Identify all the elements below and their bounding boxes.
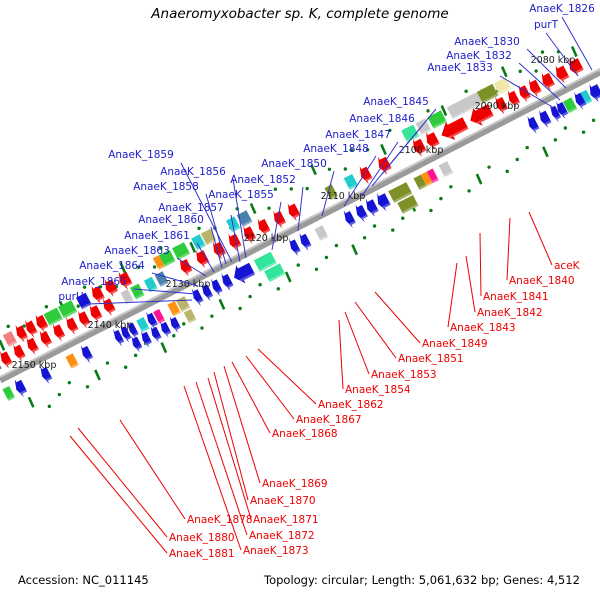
forward-gene-label[interactable]: AnaeK_1856 <box>160 166 226 178</box>
scale-tick-mark <box>290 187 293 190</box>
gene-leader-line <box>78 428 167 537</box>
gene-leader-line <box>232 362 270 433</box>
scale-tick-mark <box>449 185 452 188</box>
reverse-gene-label[interactable]: AnaeK_1869 <box>262 478 328 490</box>
forward-gene-label[interactable]: AnaeK_1860 <box>138 214 204 226</box>
forward-gene-label[interactable]: AnaeK_1832 <box>446 50 512 62</box>
reverse-gene-label[interactable]: aceK <box>554 260 581 272</box>
forward-gene-label[interactable]: AnaeK_1852 <box>230 174 296 186</box>
forward-gene-label[interactable]: AnaeK_1830 <box>454 36 520 48</box>
scale-tick-mark <box>22 324 25 327</box>
scale-tick-mark <box>251 203 255 213</box>
forward-gene-label[interactable]: AnaeK_1845 <box>363 96 429 108</box>
reverse-label-layer[interactable]: aceKAnaeK_1840AnaeK_1841AnaeK_1842AnaeK_… <box>169 260 581 560</box>
forward-gene-label[interactable]: AnaeK_1863 <box>104 245 170 257</box>
accession-text: Accession: NC_011145 <box>18 573 149 587</box>
scale-tick-mark <box>7 325 10 328</box>
gene-leader-line <box>507 218 510 280</box>
scale-tick-mark <box>182 322 185 325</box>
scale-tick-mark <box>248 295 251 298</box>
gene-leader-line <box>355 302 396 358</box>
forward-gene-label[interactable]: AnaeK_1846 <box>349 113 415 125</box>
gene-leader-line <box>375 292 420 343</box>
scale-tick-mark <box>297 263 300 266</box>
scale-tick-label: 2150 kbp <box>12 360 57 371</box>
forward-gene-label[interactable]: AnaeK_1859 <box>108 149 174 161</box>
scale-tick-mark <box>274 187 277 190</box>
forward-gene-label[interactable]: AnaeK_1861 <box>124 230 190 242</box>
scale-tick-mark <box>554 138 557 141</box>
scale-tick-mark <box>267 206 270 209</box>
scale-tick-mark <box>391 228 394 231</box>
forward-gene-label[interactable]: AnaeK_1847 <box>325 129 391 141</box>
scale-tick-mark <box>48 405 51 408</box>
scale-tick-mark <box>305 187 308 190</box>
gene-feature[interactable] <box>377 193 391 211</box>
scale-tick-mark <box>258 283 261 286</box>
forward-gene-label[interactable]: AnaeK_1850 <box>261 158 327 170</box>
scale-tick-mark <box>464 90 467 93</box>
scale-tick-mark <box>467 189 470 192</box>
gene-leader-line <box>224 366 260 483</box>
genome-map-viewer: Anaeromyxobacter sp. K, complete genome … <box>0 0 600 600</box>
scale-tick-mark <box>582 130 585 133</box>
scale-tick-mark <box>277 287 280 290</box>
scale-tick-label: 2090 kbp <box>475 101 520 112</box>
scale-tick-mark <box>315 268 318 271</box>
gene-leader-line <box>246 356 294 419</box>
scale-tick-mark <box>325 256 328 259</box>
reverse-gene-label[interactable]: AnaeK_1878 <box>187 514 253 526</box>
gene-feature[interactable] <box>234 263 255 284</box>
scale-tick-mark <box>153 265 156 268</box>
scale-tick-mark <box>238 307 241 310</box>
gene-leader-line <box>214 372 248 500</box>
scale-tick-mark <box>86 385 89 388</box>
forward-gene-label[interactable]: AnaeK_1865 <box>61 276 127 288</box>
scale-tick-mark <box>516 158 519 161</box>
scale-tick-mark <box>200 326 203 329</box>
reverse-gene-label[interactable]: AnaeK_1881 <box>169 548 235 560</box>
scale-tick-mark <box>373 224 376 227</box>
scale-tick-mark <box>45 305 48 308</box>
reverse-gene-label[interactable]: AnaeK_1880 <box>169 532 235 544</box>
scale-tick-mark <box>519 70 522 73</box>
reverse-gene-label[interactable]: AnaeK_1851 <box>398 353 464 365</box>
scale-tick-mark <box>197 227 200 230</box>
reverse-gene-label[interactable]: AnaeK_1868 <box>272 428 338 440</box>
reverse-gene-label[interactable]: AnaeK_1853 <box>371 369 437 381</box>
scale-tick-mark <box>487 165 490 168</box>
scale-tick-mark <box>124 366 127 369</box>
gene-feature[interactable] <box>556 65 570 83</box>
gene-leader-line <box>448 263 457 327</box>
scale-tick-mark <box>381 144 385 154</box>
gene-leader-line <box>70 436 167 553</box>
reverse-gene-label[interactable]: AnaeK_1872 <box>249 530 315 542</box>
forward-gene-label[interactable]: purT <box>534 19 559 31</box>
scale-tick-mark <box>0 340 4 350</box>
reverse-gene-label[interactable]: AnaeK_1849 <box>422 338 488 350</box>
gene-leader-line <box>208 378 251 519</box>
scale-tick-mark <box>541 50 544 53</box>
scale-tick-label: 2130 kbp <box>166 279 211 290</box>
scale-tick-mark <box>172 334 175 337</box>
scale-tick-label: 2080 kbp <box>531 55 576 66</box>
forward-gene-label[interactable]: AnaeK_1858 <box>133 181 199 193</box>
scale-tick-mark <box>534 69 537 72</box>
forward-gene-label[interactable]: purU <box>58 291 83 303</box>
forward-gene-label[interactable]: AnaeK_1833 <box>427 62 493 74</box>
reverse-gene-label[interactable]: AnaeK_1841 <box>483 291 549 303</box>
scale-tick-mark <box>363 236 366 239</box>
forward-gene-label[interactable]: AnaeK_1864 <box>79 260 145 272</box>
gene-leader-line <box>480 233 481 296</box>
scale-tick-mark <box>95 370 99 380</box>
scale-tick-mark <box>210 314 213 317</box>
scale-tick-mark <box>134 354 137 357</box>
scale-tick-mark <box>439 197 442 200</box>
scale-tick-mark <box>162 343 166 353</box>
reverse-gene-label[interactable]: AnaeK_1843 <box>450 322 516 334</box>
scale-tick-mark <box>477 174 481 184</box>
scale-tick-mark <box>429 209 432 212</box>
forward-gene-label[interactable]: AnaeK_1848 <box>303 143 369 155</box>
gene-leader-line <box>345 312 369 374</box>
scale-tick-mark <box>29 397 33 407</box>
gene-leader-line <box>120 420 185 519</box>
scale-tick-mark <box>564 126 567 129</box>
gene-leader-line <box>339 320 343 389</box>
reverse-gene-label[interactable]: AnaeK_1873 <box>243 545 309 557</box>
gene-leader-line <box>258 349 316 404</box>
forward-gene-label[interactable]: AnaeK_1855 <box>208 189 274 201</box>
gene-feature-highlight <box>0 367 2 373</box>
scale-tick-mark <box>526 146 529 149</box>
gene-leader-line <box>529 212 552 265</box>
scale-tick-mark <box>502 67 506 77</box>
forward-gene-label[interactable]: AnaeK_1857 <box>158 202 224 214</box>
reverse-gene-label[interactable]: AnaeK_1871 <box>253 514 319 526</box>
scale-tick-mark <box>106 361 109 364</box>
scale-tick-mark <box>58 393 61 396</box>
reverse-gene-label[interactable]: AnaeK_1862 <box>318 399 384 411</box>
reverse-gene-label[interactable]: AnaeK_1840 <box>509 275 575 287</box>
genome-stats-text: Topology: circular; Length: 5,061,632 bp… <box>263 573 580 587</box>
scale-tick-mark <box>401 217 404 220</box>
genome-map-canvas[interactable]: Anaeromyxobacter sp. K, complete genome … <box>0 0 600 600</box>
reverse-gene-label[interactable]: AnaeK_1842 <box>477 307 543 319</box>
scale-tick-mark <box>335 244 338 247</box>
reverse-gene-label[interactable]: AnaeK_1870 <box>250 495 316 507</box>
scale-tick-mark <box>352 245 356 255</box>
page-title: Anaeromyxobacter sp. K, complete genome <box>150 6 448 22</box>
gene-leader-line <box>196 382 247 535</box>
scale-tick-mark <box>344 167 347 170</box>
scale-tick-mark <box>328 168 331 171</box>
scale-tick-label: 2140 kbp <box>88 320 133 331</box>
forward-gene-label[interactable]: AnaeK_1826 <box>529 3 595 15</box>
scale-tick-mark <box>543 147 547 157</box>
scale-tick-mark <box>220 299 224 309</box>
scale-tick-mark <box>426 109 429 112</box>
scale-tick-mark <box>68 381 71 384</box>
reverse-gene-label[interactable]: AnaeK_1867 <box>296 414 362 426</box>
scale-tick-mark <box>286 272 290 282</box>
gene-leader-line <box>466 256 475 312</box>
reverse-gene-label[interactable]: AnaeK_1854 <box>345 384 411 396</box>
scale-tick-mark <box>506 170 509 173</box>
scale-tick-mark <box>592 119 595 122</box>
scale-tick-mark <box>77 304 80 307</box>
scale-tick-label: 2120 kbp <box>244 233 289 244</box>
